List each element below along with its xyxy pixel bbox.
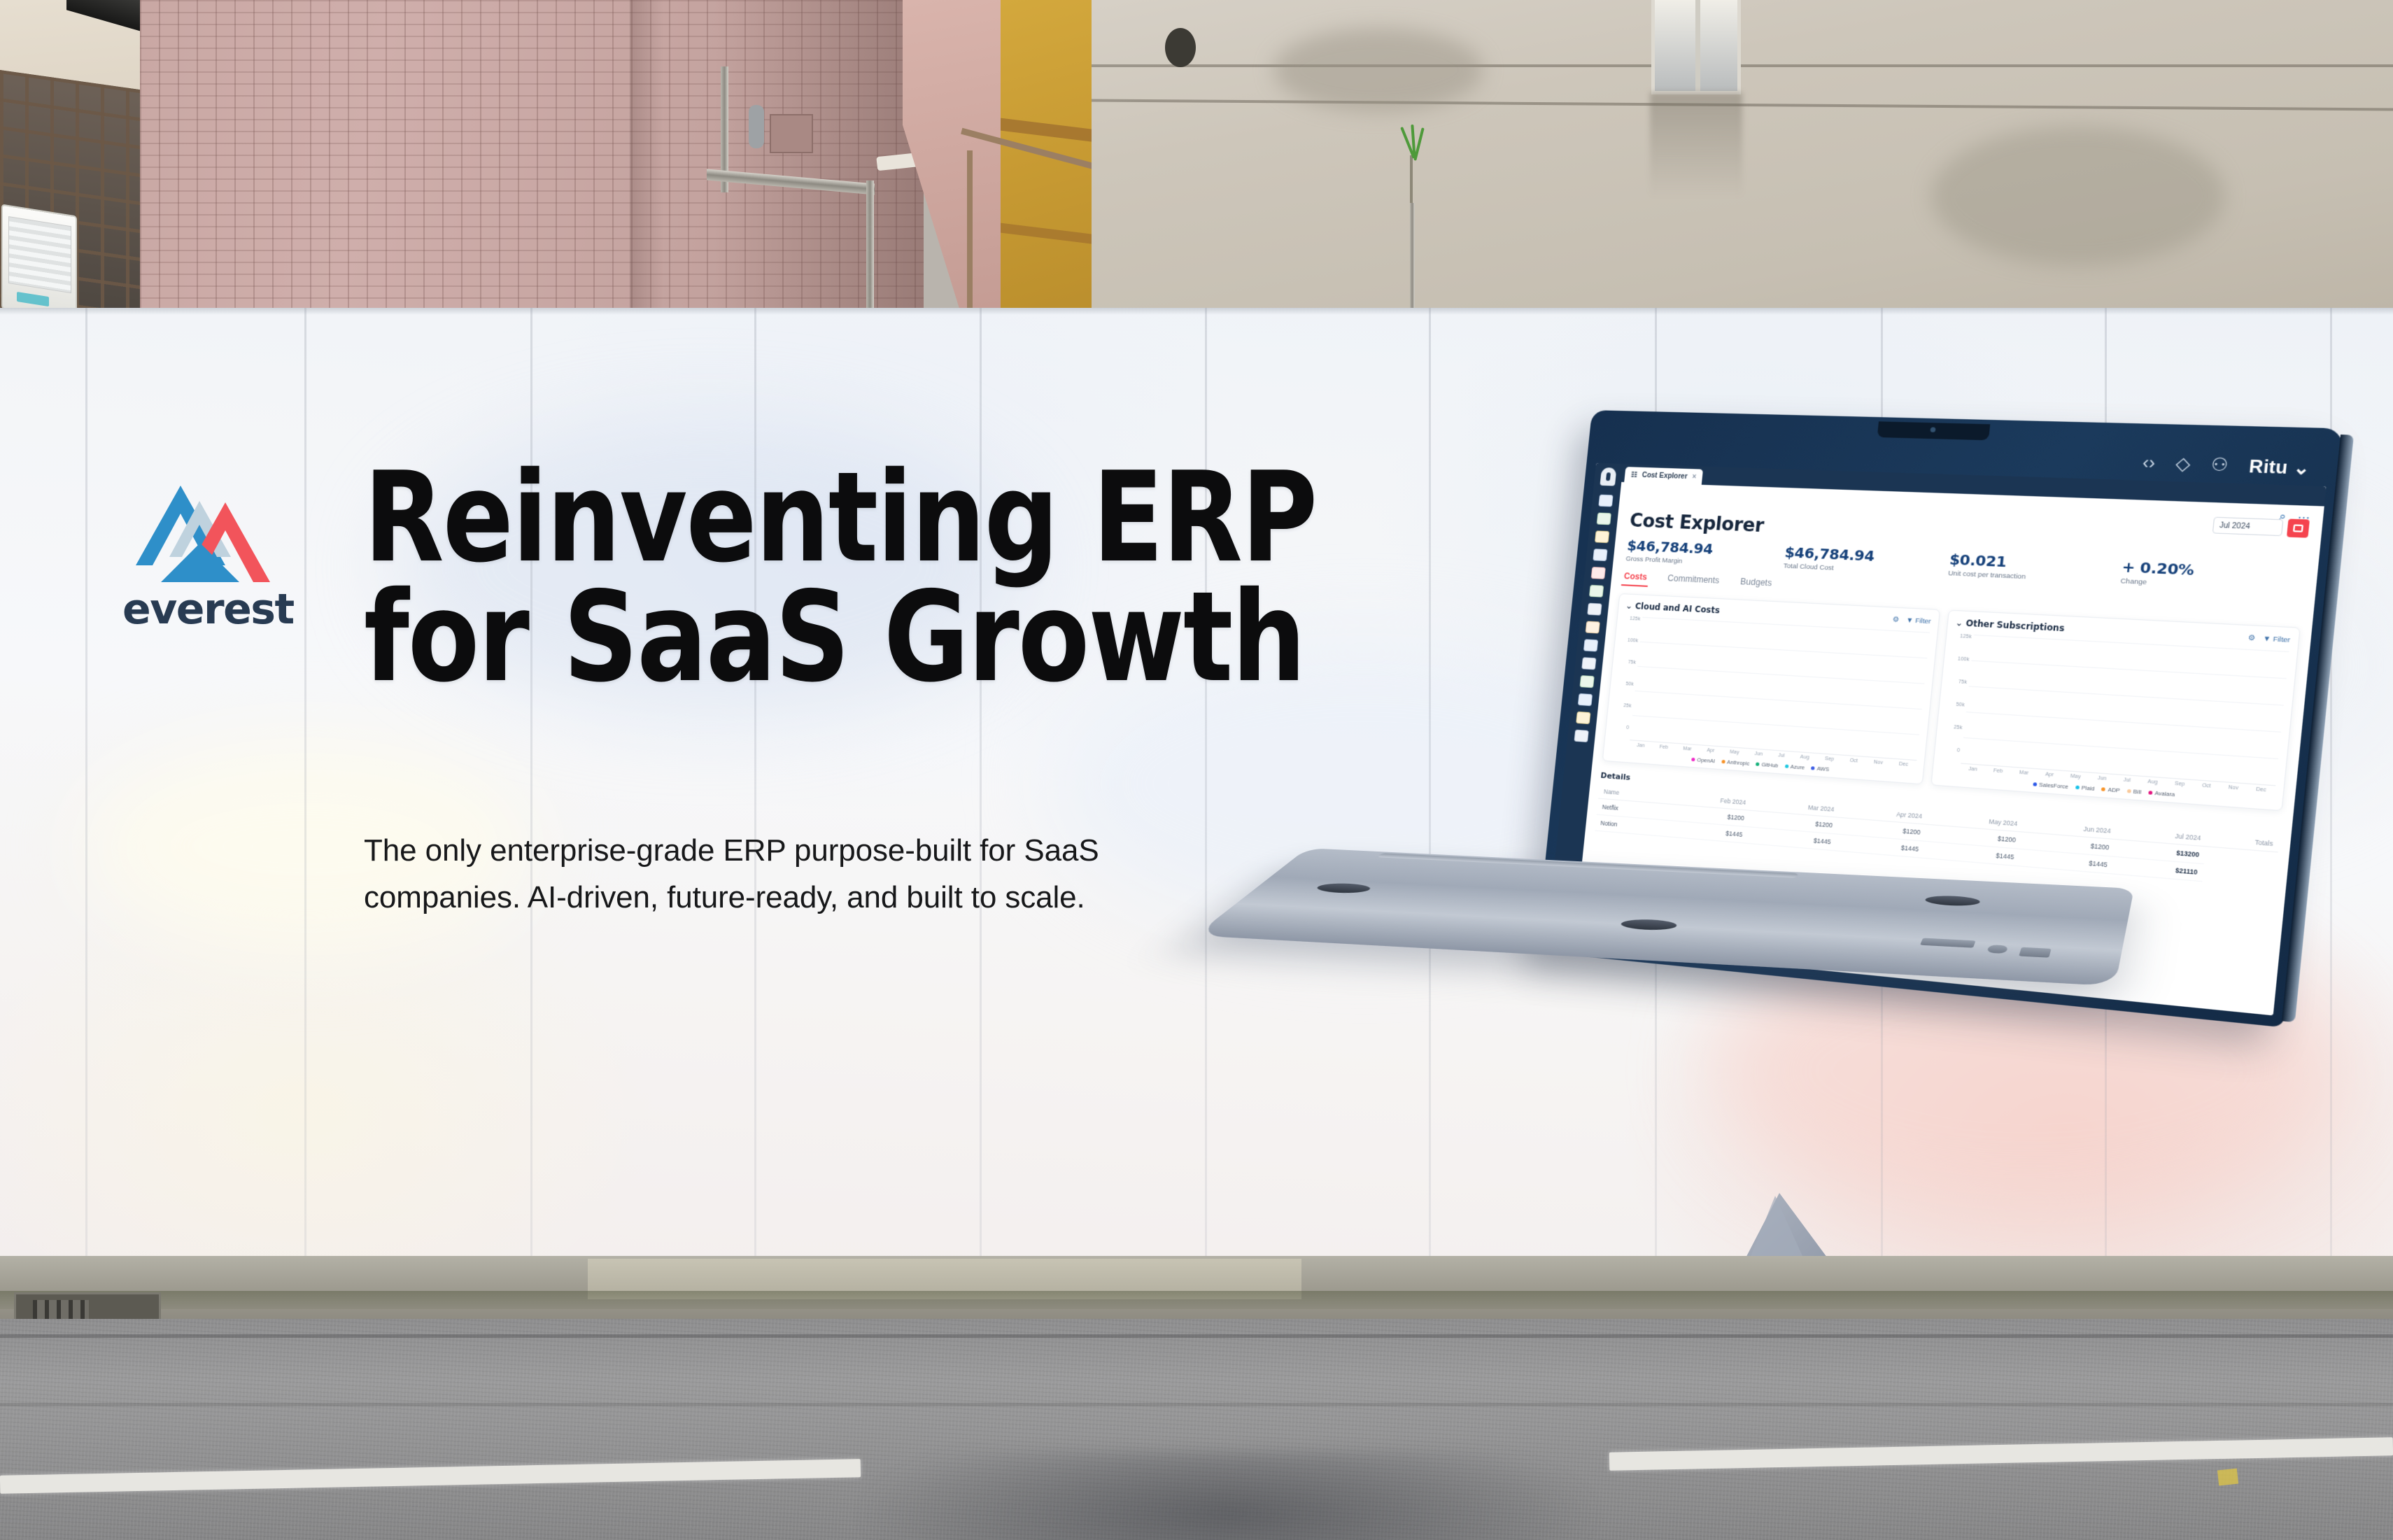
- concrete-hole: [1165, 28, 1196, 67]
- bar-segment: [1827, 754, 1834, 754]
- gear-icon[interactable]: ⚙: [2247, 634, 2255, 642]
- sidebar-icon-9[interactable]: [1583, 639, 1598, 651]
- bar-segment: [2177, 778, 2184, 779]
- legend-item[interactable]: ADP: [2101, 786, 2120, 794]
- legend-item[interactable]: OpenAI: [1691, 756, 1715, 765]
- bar-segment: [2046, 769, 2054, 770]
- bar-segment: [1900, 758, 1908, 759]
- bar[interactable]: [1876, 757, 1884, 758]
- laptop-mockup: ‹› ◇ ⚇ Ritu ⌄: [1536, 406, 2285, 1175]
- app-logo-icon[interactable]: [1600, 467, 1616, 486]
- x-tick: Jun: [1754, 751, 1763, 757]
- bar-segment: [2204, 780, 2212, 781]
- bar-segment: [2258, 784, 2266, 784]
- sidewalk-curb: [0, 1256, 2393, 1322]
- y-tick: 25k: [1615, 702, 1631, 708]
- x-tick: Jun: [2097, 776, 2106, 782]
- bar-segment: [2258, 784, 2266, 784]
- x-tick: Sep: [1825, 756, 1835, 762]
- chevron-down-icon[interactable]: ⌄: [1955, 618, 1963, 628]
- date-input[interactable]: Jul 2024: [2212, 517, 2284, 537]
- bar[interactable]: [1803, 752, 1810, 753]
- sidebar-icon-1[interactable]: [1598, 495, 1613, 507]
- bar-segment: [2204, 780, 2212, 781]
- legend-item[interactable]: AWS: [1811, 765, 1830, 772]
- sidebar-icon-3[interactable]: [1595, 530, 1609, 543]
- bar-segment: [2150, 777, 2158, 777]
- x-tick: Jan: [1637, 743, 1645, 749]
- bar-segment: [2046, 769, 2054, 770]
- bar-segment: [2204, 780, 2212, 781]
- bar-segment: [2150, 777, 2158, 777]
- urban-backdrop: [0, 0, 2393, 329]
- bar-segment: [2072, 771, 2080, 772]
- bar-segment: [2150, 777, 2158, 777]
- building-balcony: [0, 0, 150, 329]
- legend-label: Anthropic: [1727, 758, 1750, 766]
- bar-segment: [2150, 777, 2158, 777]
- panel-title-label: Other Subscriptions: [1965, 618, 2066, 633]
- bar-segment: [2258, 784, 2266, 784]
- x-tick: May: [1730, 749, 1739, 755]
- bar-segment: [1661, 742, 1668, 742]
- bar-segment: [1779, 750, 1786, 751]
- legend-label: Avalara: [2154, 790, 2175, 798]
- wet-road-patch: [861, 1452, 1595, 1540]
- concrete-window: [1651, 0, 1741, 94]
- bar-segment: [1731, 747, 1738, 747]
- bar[interactable]: [2046, 769, 2054, 770]
- concrete-stain-2: [1931, 126, 2225, 266]
- bar-segment: [1638, 740, 1645, 741]
- bar-segment: [1779, 750, 1786, 751]
- bar-segment: [1684, 744, 1691, 744]
- bar-segment: [1970, 763, 1977, 764]
- diamond-icon[interactable]: ◇: [2175, 455, 2191, 474]
- bar[interactable]: [1970, 763, 1977, 764]
- bar-segment: [1803, 752, 1810, 753]
- subheadline: The only enterprise-grade ERP purpose-bu…: [364, 828, 1155, 921]
- bar-segment: [2124, 775, 2132, 775]
- bar-segment: [1876, 757, 1884, 758]
- bar-segment: [1803, 752, 1810, 753]
- x-tick: Mar: [2019, 770, 2029, 776]
- chevron-down-icon[interactable]: ⌄: [1625, 600, 1633, 610]
- x-tick: Mar: [1683, 747, 1692, 752]
- bar-segment: [2124, 775, 2132, 775]
- sidebar-icon-10[interactable]: [1581, 657, 1596, 670]
- x-tick: Dec: [2256, 787, 2266, 793]
- laptop-foot: [1923, 895, 1982, 907]
- bar-segment: [2177, 778, 2184, 779]
- handrail-post: [967, 150, 973, 329]
- user-menu[interactable]: Ritu ⌄: [2248, 455, 2311, 479]
- bar-segment: [1900, 758, 1908, 759]
- legend-item[interactable]: Plaid: [2075, 784, 2095, 792]
- bar-segment: [1684, 744, 1691, 744]
- logo-wordmark: everest: [122, 585, 290, 634]
- sidebar-icon-13[interactable]: [1576, 712, 1590, 724]
- drain-pipe-down: [866, 181, 874, 329]
- bar-segment: [1851, 756, 1858, 756]
- bar-segment: [1970, 763, 1977, 764]
- bar-segment: [1661, 742, 1668, 742]
- sidebar-icon-12[interactable]: [1578, 693, 1593, 706]
- y-tick: 0: [1942, 747, 1960, 754]
- bar-segment: [2072, 771, 2080, 772]
- x-tick: Nov: [2228, 785, 2238, 791]
- bar-segment: [2021, 768, 2028, 768]
- legend-dot: [2148, 791, 2152, 795]
- bar-segment: [2231, 782, 2239, 783]
- bar-segment: [2150, 777, 2158, 777]
- bar[interactable]: [2124, 775, 2132, 775]
- drain-grate: [33, 1300, 89, 1321]
- bar[interactable]: [2150, 777, 2158, 777]
- bar-segment: [2098, 772, 2105, 773]
- bar-segment: [1731, 747, 1738, 747]
- laptop-port: [1986, 945, 2008, 954]
- x-tick: Jul: [2123, 777, 2131, 783]
- sidebar-icon-2[interactable]: [1597, 513, 1611, 525]
- y-tick: 75k: [1949, 679, 1967, 685]
- laptop-foot: [1313, 882, 1375, 894]
- bar-segment: [2177, 778, 2184, 779]
- bar[interactable]: [1708, 745, 1715, 746]
- ac-badge: [17, 292, 49, 306]
- panel-actions: ⚙ ▼ Filter: [2247, 634, 2290, 644]
- x-tick: Jul: [1778, 753, 1785, 758]
- bar-group: [1630, 617, 1930, 760]
- bar-segment: [1851, 756, 1858, 756]
- bar-segment: [1638, 740, 1645, 741]
- sidebar-icon-5[interactable]: [1591, 567, 1606, 579]
- laptop-port: [2019, 947, 2051, 958]
- legend-label: OpenAI: [1697, 756, 1715, 764]
- bar-segment: [2046, 769, 2054, 770]
- bar[interactable]: [1684, 744, 1691, 744]
- bar-segment: [1803, 752, 1810, 753]
- y-tick: 75k: [1620, 659, 1636, 665]
- grid-icon: ☷: [1631, 471, 1638, 479]
- wall-vent: [770, 114, 813, 153]
- legend-dot: [1784, 764, 1788, 768]
- sidebar-icon-14[interactable]: [1574, 730, 1589, 742]
- y-tick: 125k: [1624, 616, 1640, 621]
- billboard-scene: everest Reinventing ERP for SaaS Growth …: [0, 0, 2393, 1540]
- bar[interactable]: [1661, 742, 1668, 742]
- legend-label: Bill: [2133, 788, 2141, 795]
- legend-dot: [1721, 760, 1725, 763]
- bar-segment: [1876, 757, 1884, 758]
- calendar-icon[interactable]: [2287, 518, 2310, 537]
- user-name: Ritu: [2248, 456, 2289, 478]
- bar[interactable]: [1995, 765, 2003, 766]
- sidebar-icon-11[interactable]: [1580, 675, 1595, 688]
- bar[interactable]: [1638, 740, 1645, 741]
- bar-segment: [1779, 750, 1786, 751]
- sidebar-icon-6[interactable]: [1589, 585, 1604, 598]
- legend-dot: [1811, 766, 1815, 770]
- bar-segment: [2258, 784, 2266, 784]
- panel-title: ⌄ Other Subscriptions: [1955, 618, 2065, 634]
- bar[interactable]: [1731, 747, 1738, 747]
- bar-segment: [2177, 778, 2184, 779]
- bar-segment: [1876, 757, 1884, 758]
- bar-segment: [1755, 749, 1762, 749]
- bar-segment: [2177, 778, 2184, 779]
- panel-seam: [85, 308, 87, 1266]
- bar-segment: [1638, 740, 1645, 741]
- bar-segment: [2021, 768, 2028, 768]
- bar-segment: [1755, 749, 1762, 749]
- x-tick: Aug: [1800, 755, 1809, 761]
- billboard-top-edge: [0, 308, 2393, 315]
- date-range-picker: Jul 2024: [2212, 516, 2310, 538]
- bar-segment: [1995, 765, 2003, 766]
- bar-segment: [1995, 765, 2003, 766]
- panel-title: ⌄ Cloud and AI Costs: [1625, 600, 1721, 615]
- x-tick: Dec: [1898, 762, 1908, 768]
- legend-dot: [1756, 762, 1760, 765]
- legend-dot: [2101, 787, 2105, 791]
- bar-segment: [1638, 740, 1645, 741]
- bar-segment: [1731, 747, 1738, 747]
- bar[interactable]: [2098, 772, 2105, 773]
- y-tick: 50k: [1947, 702, 1965, 708]
- plot-area: [1630, 617, 1930, 761]
- legend-item[interactable]: Azure: [1784, 763, 1805, 770]
- bar-segment: [2021, 768, 2028, 768]
- y-tick: 125k: [1954, 634, 1972, 640]
- filter-button[interactable]: ▼ Filter: [1906, 616, 1931, 626]
- bar-segment: [1684, 744, 1691, 744]
- sidebar-icon-4[interactable]: [1593, 549, 1607, 561]
- bar-segment: [2231, 782, 2239, 783]
- bar-segment: [2124, 775, 2132, 775]
- bar-segment: [1995, 765, 2003, 766]
- bar-segment: [2098, 772, 2105, 773]
- bar-segment: [1661, 742, 1668, 742]
- mountain-logo-icon: [133, 477, 280, 582]
- legend-label: SalesForce: [2039, 782, 2069, 791]
- bar-segment: [1708, 745, 1715, 746]
- panel-cloud-and-ai-costs: ⌄ Cloud and AI Costs ⚙ ▼ Filter: [1602, 593, 1940, 784]
- bar-segment: [1755, 749, 1762, 749]
- bar-segment: [2072, 771, 2080, 772]
- bar-group: [1961, 635, 2289, 785]
- panel-seam: [304, 308, 306, 1266]
- gear-icon[interactable]: ⚙: [1892, 616, 1899, 624]
- legend-item[interactable]: SalesForce: [2033, 781, 2069, 790]
- wall-streak: [630, 0, 663, 329]
- bar-segment: [1803, 752, 1810, 753]
- bar-segment: [1970, 763, 1977, 764]
- bar-segment: [1851, 756, 1858, 756]
- legend-dot: [1691, 758, 1695, 761]
- bar-segment: [1995, 765, 2003, 766]
- bar-segment: [1708, 745, 1715, 746]
- x-tick: Jan: [1968, 767, 1977, 772]
- bar-segment: [1876, 757, 1884, 758]
- bar[interactable]: [1900, 758, 1908, 759]
- sidebar-icon-8[interactable]: [1586, 621, 1600, 634]
- x-tick: Aug: [2147, 779, 2158, 786]
- legend-item[interactable]: Avalara: [2148, 789, 2175, 798]
- bar-segment: [2231, 782, 2239, 783]
- chevron-down-icon: ⌄: [2292, 458, 2311, 479]
- headline-line-2: for SaaS Growth: [364, 578, 1379, 698]
- legend-label: GitHub: [1761, 761, 1779, 769]
- bar-segment: [2231, 782, 2239, 783]
- legend-dot: [2127, 789, 2131, 793]
- billboard-panel: everest Reinventing ERP for SaaS Growth …: [0, 308, 2393, 1266]
- tab-costs[interactable]: Costs: [1623, 571, 1647, 582]
- bar[interactable]: [2204, 780, 2212, 781]
- bar-segment: [1900, 758, 1908, 759]
- bell-icon[interactable]: ⚇: [2210, 456, 2229, 475]
- column-header: Totals: [2205, 831, 2280, 852]
- legend-item[interactable]: Anthropic: [1721, 758, 1750, 767]
- bar-segment: [2021, 768, 2028, 768]
- bar-segment: [1779, 750, 1786, 751]
- bar[interactable]: [2072, 771, 2080, 772]
- tab-cost-explorer[interactable]: ☷ Cost Explorer ×: [1624, 467, 1703, 485]
- legend-label: ADP: [2108, 786, 2120, 794]
- bar-segment: [2021, 768, 2028, 768]
- bar-segment: [2258, 784, 2266, 784]
- y-tick: 100k: [1622, 637, 1638, 643]
- bar-segment: [2098, 772, 2105, 773]
- x-tick: May: [2070, 774, 2081, 780]
- bar-segment: [1708, 745, 1715, 746]
- bar-segment: [2098, 772, 2105, 773]
- air-conditioner-unit: [1, 204, 77, 320]
- bar-segment: [1900, 758, 1908, 759]
- code-icon[interactable]: ‹›: [2142, 454, 2156, 472]
- panel-other-subscriptions: ⌄ Other Subscriptions ⚙ ▼ Filter: [1930, 610, 2301, 812]
- bar-segment: [1827, 754, 1834, 754]
- filter-label: Filter: [2273, 635, 2291, 644]
- bar[interactable]: [2231, 782, 2239, 783]
- bar-segment: [1851, 756, 1858, 756]
- chart-cloud-and-ai-costs: 125k100k75k50k25k0: [1612, 616, 1930, 761]
- bar-segment: [1708, 745, 1715, 746]
- curb-moss: [0, 1291, 2393, 1309]
- bar-segment: [1731, 747, 1738, 747]
- x-tick: Sep: [2175, 781, 2185, 787]
- bar-segment: [1970, 763, 1977, 764]
- wall-plant-leaf: [1413, 127, 1424, 161]
- filter-icon: ▼: [1906, 616, 1914, 625]
- laptop-foot: [1618, 918, 1680, 931]
- laptop-port: [1920, 938, 1976, 948]
- bar-segment: [1638, 740, 1645, 741]
- bar-segment: [2124, 775, 2132, 775]
- bar[interactable]: [1827, 754, 1834, 754]
- tab-label: Cost Explorer: [1642, 471, 1688, 480]
- y-tick: 100k: [1951, 656, 1969, 663]
- bar-segment: [2046, 769, 2054, 770]
- bar[interactable]: [1851, 756, 1858, 756]
- bar[interactable]: [2177, 778, 2184, 779]
- bar-segment: [2098, 772, 2105, 773]
- legend-item[interactable]: Bill: [2126, 788, 2141, 796]
- bar[interactable]: [2258, 784, 2266, 784]
- charts-row: ⌄ Cloud and AI Costs ⚙ ▼ Filter: [1593, 580, 2313, 812]
- x-tick: Apr: [2045, 772, 2054, 777]
- concrete-stain-1: [1273, 28, 1483, 112]
- x-tick: Oct: [2202, 783, 2211, 789]
- bar-segment: [1827, 754, 1834, 754]
- panel-seam: [1429, 308, 1431, 1266]
- bar-segment: [2231, 782, 2239, 783]
- bar-segment: [2072, 771, 2080, 772]
- legend-dot: [2033, 782, 2037, 786]
- bar-segment: [1827, 754, 1834, 754]
- concrete-seam-lower: [1092, 99, 2393, 111]
- building-pink-tile: [140, 0, 924, 329]
- bar-segment: [1684, 744, 1691, 744]
- x-tick: Feb: [1659, 744, 1668, 750]
- bar-segment: [1995, 765, 2003, 766]
- bar[interactable]: [2021, 768, 2028, 768]
- legend-dot: [2075, 785, 2080, 789]
- x-tick: Oct: [1849, 758, 1858, 764]
- bar[interactable]: [1755, 749, 1762, 749]
- legend-label: AWS: [1816, 765, 1829, 773]
- bar-segment: [2204, 780, 2212, 781]
- filter-button[interactable]: ▼ Filter: [2263, 635, 2291, 644]
- bar-segment: [1803, 752, 1810, 753]
- bar-segment: [1731, 747, 1738, 747]
- road-marker: [2217, 1469, 2238, 1486]
- everest-logo: everest: [122, 477, 290, 634]
- bar-segment: [1661, 742, 1668, 742]
- legend-item[interactable]: GitHub: [1756, 761, 1779, 769]
- ac-louvers: [8, 216, 71, 293]
- y-tick: 50k: [1618, 681, 1634, 686]
- plot-area: [1961, 635, 2289, 786]
- close-icon[interactable]: ×: [1692, 473, 1697, 481]
- sidebar-icon-7[interactable]: [1587, 603, 1602, 616]
- panel-title-label: Cloud and AI Costs: [1635, 601, 1720, 615]
- bar-segment: [1827, 754, 1834, 754]
- bar-segment: [1876, 757, 1884, 758]
- bar-segment: [1755, 749, 1762, 749]
- x-tick: Apr: [1707, 748, 1715, 754]
- wall-bracket: [749, 105, 764, 148]
- bar-segment: [1684, 744, 1691, 744]
- window-stain: [1650, 92, 1742, 197]
- page-title: Reinventing ERP for SaaS Growth: [364, 458, 1379, 698]
- bar-segment: [1900, 758, 1908, 759]
- bar-segment: [1755, 749, 1762, 749]
- bar-segment: [1779, 750, 1786, 751]
- road-seam: [0, 1334, 2393, 1338]
- bar-segment: [1661, 742, 1668, 742]
- bar-segment: [2072, 771, 2080, 772]
- bar-segment: [1708, 745, 1715, 746]
- chart-other-subscriptions: 125k100k75k50k25k0: [1941, 634, 2289, 786]
- bar-segment: [2046, 769, 2054, 770]
- panel-actions: ⚙ ▼ Filter: [1892, 616, 1931, 626]
- bar[interactable]: [1779, 750, 1786, 751]
- tab-budgets[interactable]: Budgets: [1740, 577, 1772, 588]
- bar-segment: [1970, 763, 1977, 764]
- road-seam: [0, 1403, 2393, 1406]
- bar-segment: [2204, 780, 2212, 781]
